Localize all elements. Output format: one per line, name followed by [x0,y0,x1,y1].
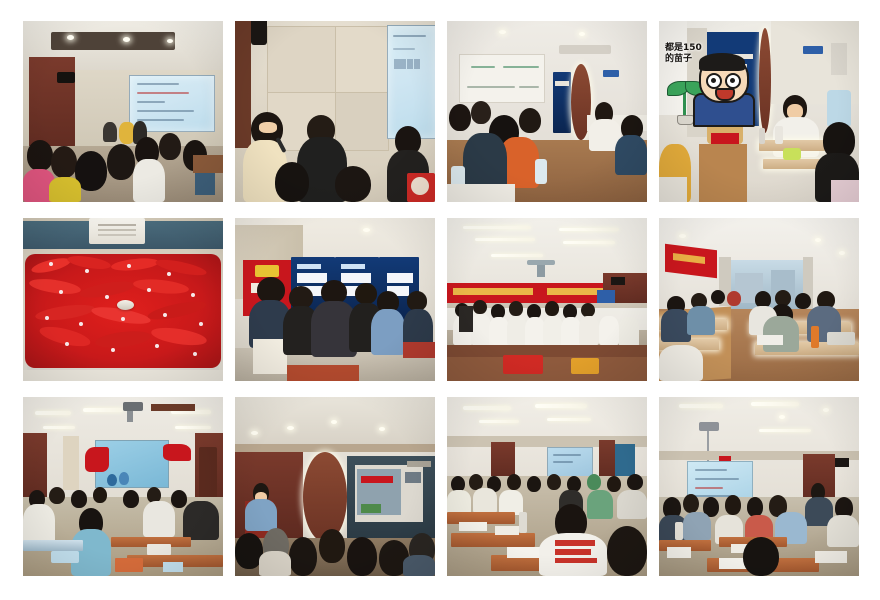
photo-image-12 [659,397,859,576]
photo-tile[interactable]: Classroom with students at desks facing … [23,397,223,576]
photo-tile[interactable]: Students in white t-shirts standing and … [447,218,647,381]
sticker-hair [699,53,745,71]
photo-tile[interactable]: Lecture room with ceiling projector, sli… [659,397,859,576]
photo-image-9 [23,397,223,576]
photo-tile[interactable]: Crowded lecture room seen from the back;… [447,397,647,576]
photo-image-8 [659,218,859,381]
bracelet-charm [117,300,134,310]
photo-tile[interactable]: Panel Q&A: woman holding a microphone, m… [235,21,435,202]
sticker-eye-right [725,73,741,89]
photo-tile[interactable]: Group photo of six staff members standin… [235,218,435,381]
photo-tile[interactable]: Self-study room: students working at row… [659,218,859,381]
photo-image-11 [447,397,647,576]
photo-tile[interactable]: Lecture hall with audience seated facing… [23,21,223,202]
photo-tile[interactable]: Close-up of a pile of red braided cord b… [23,218,223,381]
sprout-pot-icon [677,115,694,125]
photo-image-5 [23,218,223,381]
photo-tile[interactable]: 都是150 的苗子 Speaker seated at a [659,21,859,202]
sticker-eye-left [706,73,722,89]
photo-image-10 [235,397,435,576]
photo-gallery: Lecture hall with audience seated facing… [0,0,880,600]
photo-image-6 [235,218,435,381]
photo-tile[interactable]: Small classroom, students seated at desk… [447,21,647,202]
sticker-text-line-1: 都是150 [665,43,719,54]
sticker-face-icon [699,55,749,103]
photo-tile[interactable]: Presenter speaking at a red podium next … [235,397,435,576]
photo-image-3 [447,21,647,202]
photo-image-1 [23,21,223,202]
sticker-mouth [715,88,735,101]
photo-grid: Lecture hall with audience seated facing… [23,21,859,576]
photo-image-7 [447,218,647,381]
photo-image-2 [235,21,435,202]
photo-image-4: 都是150 的苗子 [659,21,859,202]
cartoon-sticker-overlay: 都是150 的苗子 [663,43,755,121]
book-white [89,218,145,244]
